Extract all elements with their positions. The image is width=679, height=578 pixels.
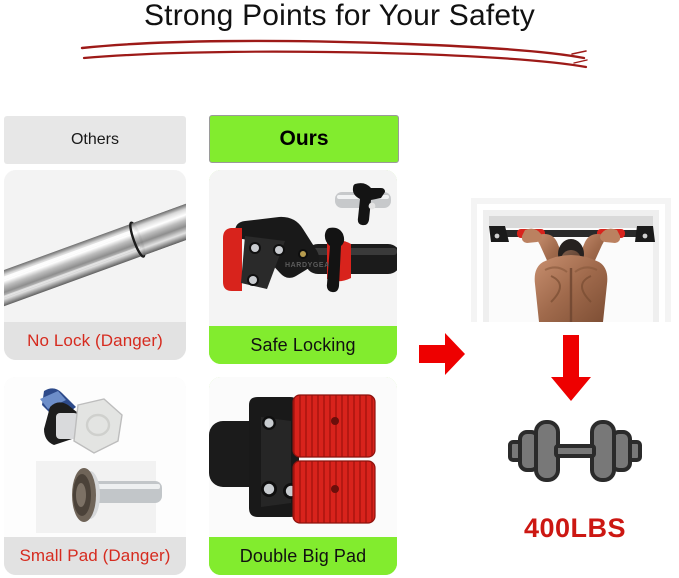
svg-text:HARDYGEAR: HARDYGEAR: [285, 262, 336, 269]
worn-small-pad-on-rod-photo: [36, 461, 162, 533]
weight-capacity-label: 400LBS: [455, 513, 679, 544]
chrome-bar-no-lock-photo: [4, 170, 186, 322]
red-right-arrow: [417, 331, 467, 377]
card-label-others-pad: Small Pad (Danger): [4, 537, 186, 575]
card-others-locking: No Lock (Danger): [4, 170, 186, 360]
double-red-ribbed-pad-photo: [209, 377, 397, 537]
title-block: Strong Points for Your Safety: [0, 0, 679, 78]
black-red-locking-mechanism-photo: HARDYGEAR: [209, 170, 397, 326]
column-header-ours: Ours: [209, 115, 399, 163]
card-ours-pad: Double Big Pad: [209, 377, 397, 575]
pull-up-hero-photo: [465, 196, 677, 322]
card-label-ours-pad: Double Big Pad: [209, 537, 397, 575]
red-down-arrow: [548, 333, 594, 403]
card-others-pad: Small Pad (Danger): [4, 377, 186, 575]
dumbbell-icon: [508, 412, 642, 490]
column-header-ours-label: Ours: [279, 127, 328, 151]
column-header-others-label: Others: [71, 131, 119, 149]
card-label-others-locking: No Lock (Danger): [4, 322, 186, 360]
card-ours-locking: HARDYGEAR Safe Locking: [209, 170, 397, 364]
title-underline-swoosh: [78, 36, 588, 70]
column-header-others: Others: [4, 116, 186, 164]
small-pad-photos: [4, 377, 186, 537]
card-label-ours-locking: Safe Locking: [209, 326, 397, 364]
page-title: Strong Points for Your Safety: [0, 0, 679, 33]
